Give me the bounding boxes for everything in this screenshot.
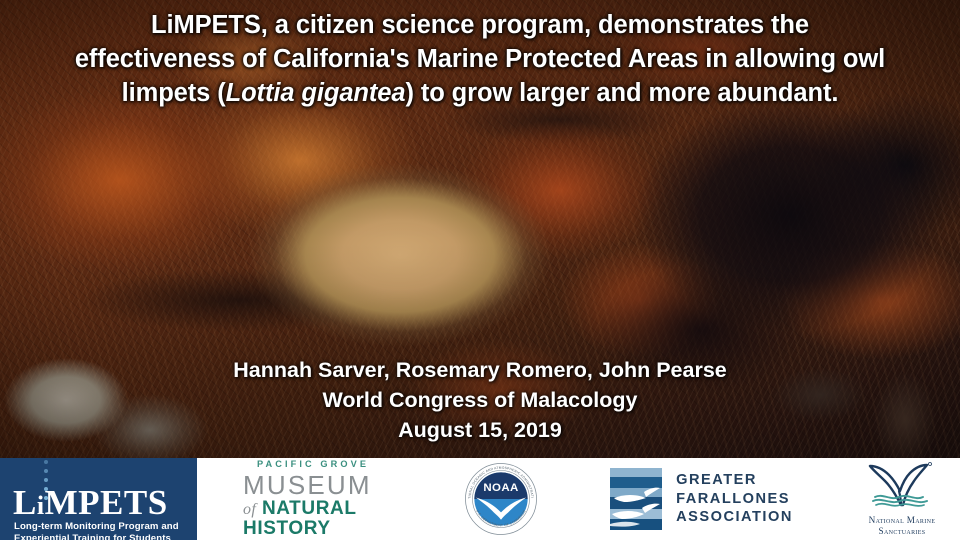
limpets-wordmark-l: L [13, 483, 37, 522]
author-list: Hannah Sarver, Rosemary Romero, John Pea… [0, 355, 960, 385]
pgmnh-of: of [243, 501, 256, 518]
title-line-2: effectiveness of California's Marine Pro… [34, 42, 926, 76]
logo-noaa: NOAA NATIONAL OCEANIC AND ATMOSPHERIC AD… [455, 458, 547, 540]
presentation-date: August 15, 2019 [0, 415, 960, 445]
title-line-3-pre: limpets ( [122, 79, 226, 107]
pgmnh-line-4: HISTORY [243, 519, 413, 538]
limpets-tagline: Long-term Monitoring Program and Experie… [14, 521, 179, 540]
svg-text:NOAA: NOAA [483, 482, 518, 494]
gfa-line-2: FARALLONES [676, 490, 793, 509]
greater-farallones-whale-mark-icon [610, 468, 662, 530]
nms-line-1: National Marine [863, 515, 941, 526]
logo-greater-farallones-association: GREATER FARALLONES ASSOCIATION [599, 458, 804, 540]
pgmnh-line-2: MUSEUM [243, 472, 413, 498]
title-line-3-post: ) to grow larger and more abundant. [405, 79, 838, 107]
title-line-1: LiMPETS, a citizen science program, demo… [34, 8, 926, 42]
sponsor-logo-bar: LiMPETS Long-term Monitoring Program and… [0, 458, 960, 540]
limpets-wordmark-i: i [37, 491, 45, 520]
logo-limpets: LiMPETS Long-term Monitoring Program and… [0, 458, 197, 540]
logo-national-marine-sanctuaries: National Marine Sanctuaries [846, 458, 958, 540]
limpets-wordmark: LiMPETS [13, 485, 168, 520]
pgmnh-natural: NATURAL [262, 498, 357, 519]
gfa-line-3: ASSOCIATION [676, 508, 793, 527]
gfa-wordmark: GREATER FARALLONES ASSOCIATION [676, 471, 793, 527]
limpets-tagline-line-1: Long-term Monitoring Program and [14, 521, 179, 533]
slide-title: LiMPETS, a citizen science program, demo… [34, 8, 926, 110]
nms-line-2: Sanctuaries [863, 526, 941, 537]
limpets-wordmark-rest: MPETS [45, 483, 168, 522]
venue-name: World Congress of Malacology [0, 385, 960, 415]
nms-wordmark: National Marine Sanctuaries [863, 515, 941, 537]
pgmnh-line-1: PACIFIC GROVE [243, 460, 413, 469]
pgmnh-line-3: of NATURAL [243, 499, 413, 518]
slide-byline: Hannah Sarver, Rosemary Romero, John Pea… [0, 355, 960, 445]
species-name-italic: Lottia gigantea [226, 79, 406, 107]
logo-pacific-grove-museum: PACIFIC GROVE MUSEUM of NATURAL HISTORY [197, 458, 413, 540]
title-line-3: limpets (Lottia gigantea) to grow larger… [34, 76, 926, 110]
noaa-seal-icon: NOAA NATIONAL OCEANIC AND ATMOSPHERIC AD… [464, 462, 538, 536]
presentation-slide: LiMPETS, a citizen science program, demo… [0, 0, 960, 540]
gfa-line-1: GREATER [676, 471, 793, 490]
whale-tail-icon [863, 461, 941, 509]
limpets-tagline-line-2: Experiential Training for Students [14, 533, 179, 540]
